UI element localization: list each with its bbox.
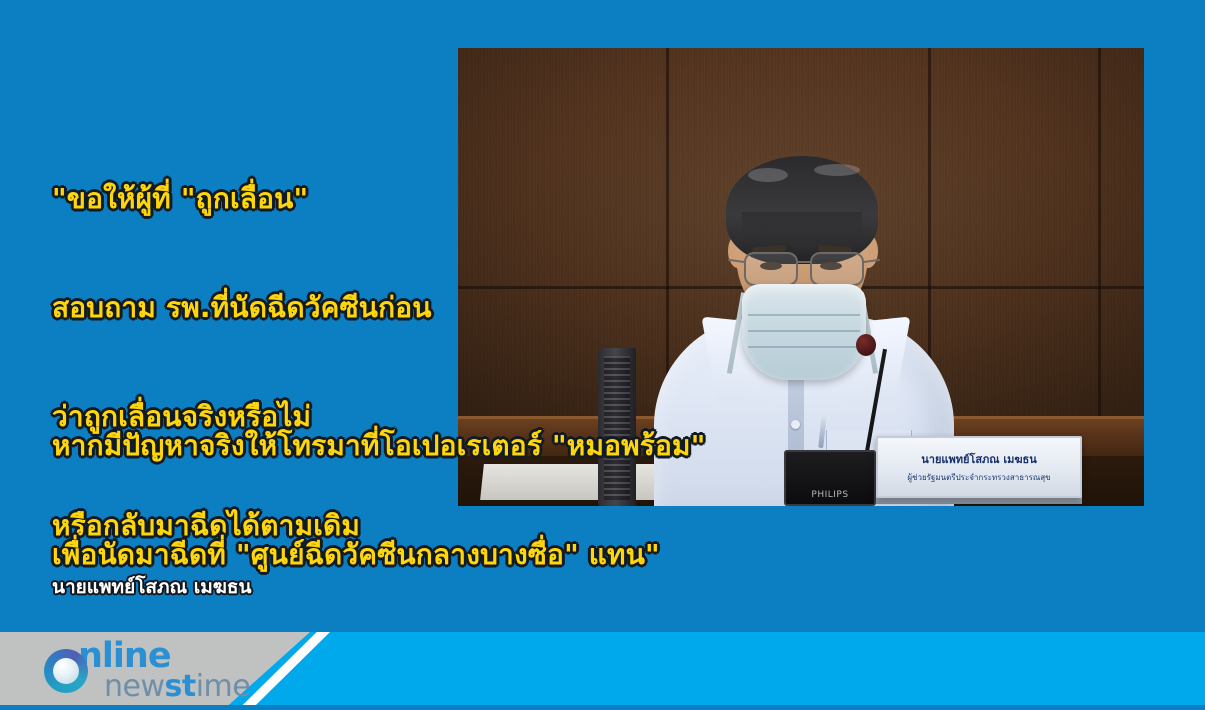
graphic-canvas: PHILIPS นายแพทย์โสภณ เมฆธน ผู้ช่วยรัฐมนต…	[0, 0, 1205, 710]
logo-newstime-accent: st	[165, 669, 196, 704]
logo-newstime-post: ime	[196, 669, 251, 704]
nameplate-title-text: ผู้ช่วยรัฐมนตรีประจำกระทรวงสาธารณสุข	[907, 471, 1050, 484]
philips-brand-label: PHILIPS	[786, 490, 874, 500]
philips-device: PHILIPS	[784, 450, 876, 506]
mask-pleat-2	[748, 330, 860, 332]
hair-highlight-right	[814, 164, 860, 176]
headline-secondary-line-1: หากมีปัญหาจริงให้โทรมาที่โอเปอเรเตอร์ "ห…	[52, 428, 705, 464]
headline-primary-line-1: "ขอให้ผู้ที่ "ถูกเลื่อน"	[52, 181, 432, 217]
lens-right	[810, 252, 864, 286]
footer-bar: nline newstime	[0, 632, 1205, 710]
mask-pleat-1	[748, 314, 860, 316]
logo-circle-icon	[44, 649, 88, 693]
lens-left	[744, 252, 798, 286]
mask-pleat-3	[748, 346, 860, 348]
desk-nameplate: นายแพทย์โสภณ เมฆธน ผู้ช่วยรัฐมนตรีประจำก…	[876, 436, 1082, 498]
logo-newstime-pre: new	[104, 669, 165, 704]
shirt-button-upper	[791, 420, 800, 429]
speaker-name: นายแพทย์โสภณ เมฆธน	[52, 574, 392, 601]
glasses-temple-right	[862, 259, 880, 263]
footer-bottom-rule	[0, 705, 1205, 710]
hair-highlight-left	[748, 168, 788, 182]
surgical-mask	[742, 284, 866, 380]
logo-line-newstime: newstime	[104, 674, 250, 700]
logo-line-online: nline	[78, 641, 250, 672]
microphone-icon	[856, 334, 876, 356]
headline-primary-line-2: สอบถาม รพ.ที่นัดฉีดวัคซีนก่อน	[52, 290, 432, 326]
online-newstime-logo[interactable]: nline newstime	[44, 642, 250, 700]
logo-wordmark: nline newstime	[78, 641, 250, 700]
nameplate-name-text: นายแพทย์โสภณ เมฆธน	[921, 450, 1037, 468]
glasses-bridge	[798, 261, 812, 263]
